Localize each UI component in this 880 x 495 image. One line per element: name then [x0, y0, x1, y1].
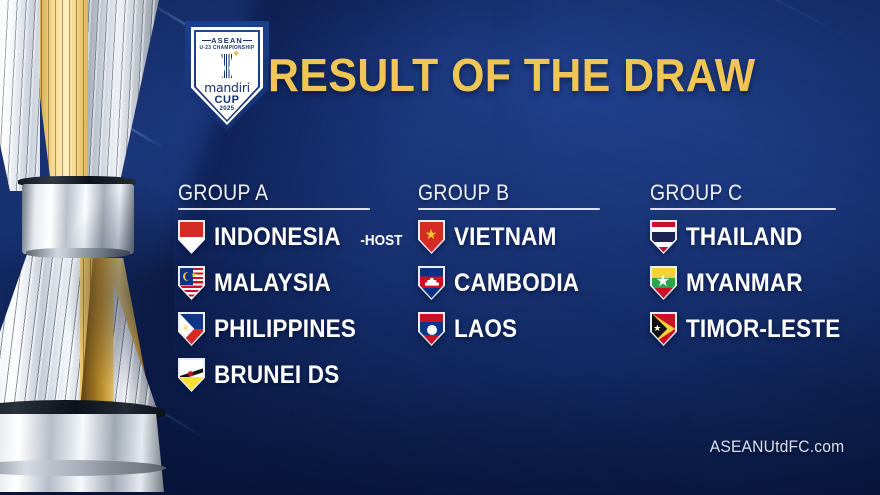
indonesia-flag-icon	[178, 220, 205, 254]
group-a-underline	[178, 208, 370, 210]
malaysia-flag-icon: ★	[178, 266, 205, 300]
team-row[interactable]: ★ MYANMAR	[650, 264, 868, 302]
team-row[interactable]: ★ VIETNAM	[418, 218, 650, 256]
trophy-cast-shadow	[0, 170, 174, 470]
team-name: LAOS	[454, 315, 517, 344]
star-icon: ✦	[232, 50, 240, 60]
group-column-b: GROUP B ★ VIETNAM	[418, 180, 650, 394]
groups-container: GROUP A INDONESIA -HOST	[178, 180, 868, 394]
team-row[interactable]: THAILAND	[650, 218, 868, 256]
team-name: MALAYSIA	[214, 269, 331, 298]
watermark-url: ASEANUtdFC.com	[709, 437, 844, 457]
team-row[interactable]: ★ TIMOR-LESTE	[650, 310, 868, 348]
group-b-header: GROUP B	[418, 180, 622, 206]
group-c-header: GROUP C	[650, 180, 842, 206]
timorleste-flag-icon: ★	[650, 312, 677, 346]
host-badge: -HOST	[360, 232, 402, 249]
myanmar-flag-icon: ★	[650, 266, 677, 300]
group-a-header: GROUP A	[178, 180, 389, 206]
brunei-flag-icon: ✹	[178, 358, 205, 392]
laos-flag-icon	[418, 312, 445, 346]
group-column-c: GROUP C THAILAND ★	[650, 180, 868, 394]
logo-cup-text: CUP	[188, 94, 266, 106]
team-row[interactable]: ✹ BRUNEI DS	[178, 356, 418, 394]
logo-sponsor-text: mandiri	[188, 80, 266, 95]
team-row[interactable]: INDONESIA -HOST	[178, 218, 418, 256]
team-name: CAMBODIA	[454, 269, 579, 298]
team-row[interactable]: CAMBODIA	[418, 264, 650, 302]
cambodia-flag-icon	[418, 266, 445, 300]
group-column-a: GROUP A INDONESIA -HOST	[178, 180, 418, 394]
draw-result-graphic: ASEAN U-23 CHAMPIONSHIP ✦ mandiri CUP 20…	[0, 0, 880, 495]
page-title: RESULT OF THE DRAW	[268, 48, 756, 102]
thailand-flag-icon	[650, 220, 677, 254]
team-name: MYANMAR	[686, 269, 803, 298]
logo-asean-text: ASEAN	[188, 36, 266, 45]
vietnam-flag-icon: ★	[418, 220, 445, 254]
team-row[interactable]: ★ MALAYSIA	[178, 264, 418, 302]
team-name: PHILIPPINES	[214, 315, 356, 344]
team-name: BRUNEI DS	[214, 361, 339, 390]
trophy-upper-flutes	[0, 0, 164, 191]
team-name: TIMOR-LESTE	[686, 315, 840, 344]
tournament-logo: ASEAN U-23 CHAMPIONSHIP ✦ mandiri CUP 20…	[188, 24, 266, 128]
trophy-image	[0, 0, 184, 490]
team-name: THAILAND	[686, 223, 802, 252]
logo-championship-text: U-23 CHAMPIONSHIP	[190, 45, 264, 51]
team-name: VIETNAM	[454, 223, 557, 252]
group-b-underline	[418, 208, 600, 210]
group-c-underline	[650, 208, 836, 210]
team-row[interactable]: ☀ PHILIPPINES	[178, 310, 418, 348]
team-row[interactable]: LAOS	[418, 310, 650, 348]
team-name: INDONESIA	[214, 223, 341, 252]
logo-year-text: 2025	[188, 106, 266, 112]
philippines-flag-icon: ☀	[178, 312, 205, 346]
